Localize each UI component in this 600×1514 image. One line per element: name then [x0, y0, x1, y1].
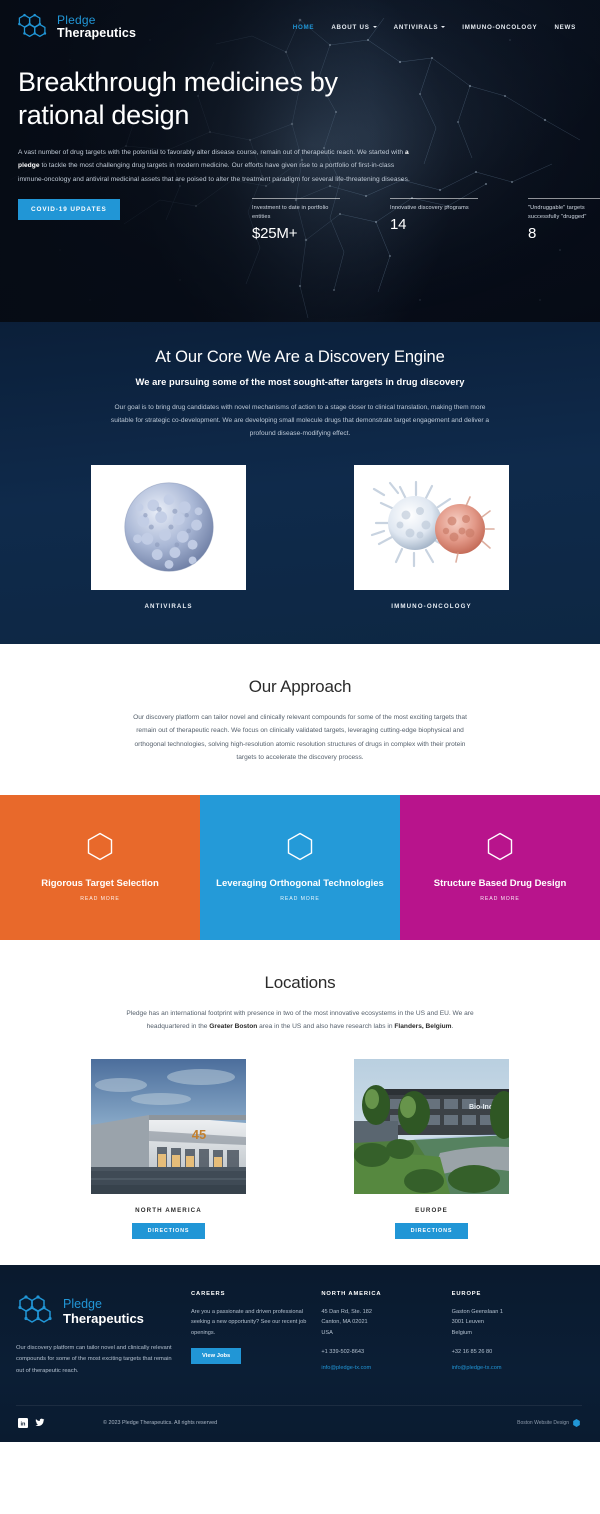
north-america-photo: 45 — [91, 1059, 246, 1194]
nav-item-antivirals[interactable]: ANTIVIRALS — [394, 24, 446, 31]
eu-phone[interactable]: +32 16 85 26 80 — [452, 1347, 582, 1357]
page-root: Pledge Therapeutics HOME ABOUT US ANTIVI… — [0, 0, 600, 1442]
pillar-title: Rigorous Target Selection — [41, 877, 159, 890]
engine-card-antivirals[interactable]: ANTIVIRALS — [91, 465, 246, 610]
stat-divider — [390, 198, 478, 199]
chevron-down-icon — [373, 26, 377, 28]
careers-heading: CAREERS — [191, 1291, 321, 1297]
stat-programs-value: 14 — [390, 216, 478, 233]
stat-divider — [528, 198, 600, 199]
nav-item-home[interactable]: HOME — [293, 24, 315, 31]
approach-title: Our Approach — [0, 677, 600, 697]
footer-brand-column: Pledge Therapeutics Our discovery platfo… — [16, 1291, 191, 1377]
europe-address: Gaston Geenslaan 1 3001 Leuven Belgium — [452, 1307, 582, 1338]
eu-city: 3001 Leuven — [452, 1317, 582, 1327]
twitter-icon[interactable] — [35, 1418, 45, 1428]
locations-intro-part2: area in the US and also have research la… — [257, 1023, 394, 1030]
credit-badge-icon — [573, 1419, 580, 1427]
approach-pillars: Rigorous Target Selection READ MORE Leve… — [0, 795, 600, 940]
hexagon-outline-icon — [87, 832, 113, 861]
location-north-america: 45 NORTH AMERICA DIRECTIONS — [91, 1059, 246, 1239]
copyright-text: © 2023 Pledge Therapeutics. All rights r… — [103, 1420, 517, 1426]
north-america-heading: NORTH AMERICA — [321, 1291, 451, 1297]
north-america-directions-button[interactable]: DIRECTIONS — [132, 1223, 206, 1239]
covid-updates-button[interactable]: COVID-19 UPDATES — [18, 199, 120, 220]
footer-blurb: Our discovery platform can tailor novel … — [16, 1343, 177, 1377]
locations-intro-bold2: Flanders, Belgium — [394, 1023, 451, 1030]
stat-undruggable: "Undruggable" targets successfully "drug… — [528, 198, 600, 242]
antivirals-thumbnail — [91, 465, 246, 590]
footer-europe-column: EUROPE Gaston Geenslaan 1 3001 Leuven Be… — [452, 1291, 582, 1377]
pillar-title: Leveraging Orthogonal Technologies — [216, 877, 384, 890]
stat-investment-value: $25M+ — [252, 225, 340, 242]
nav-item-about-us-label: ABOUT US — [331, 24, 369, 31]
svg-text:45: 45 — [192, 1127, 206, 1142]
footer-careers-column: CAREERS Are you a passionate and driven … — [191, 1291, 321, 1377]
hero-paragraph-part1: A vast number of drug targets with the p… — [18, 149, 405, 156]
hero-stats: Investment to date in portfolio entities… — [252, 198, 600, 242]
stat-programs: Innovative discovery programs 14 — [390, 198, 478, 242]
view-jobs-button[interactable]: View Jobs — [191, 1348, 241, 1364]
careers-body: Are you a passionate and driven professi… — [191, 1307, 321, 1338]
north-america-caption: NORTH AMERICA — [91, 1207, 246, 1214]
north-america-address: 45 Dan Rd, Ste. 182 Canton, MA 02021 USA — [321, 1307, 451, 1338]
our-approach-section: Our Approach Our discovery platform can … — [0, 644, 600, 795]
main-navigation: Pledge Therapeutics HOME ABOUT US ANTIVI… — [0, 0, 600, 44]
svg-text:in: in — [21, 1421, 27, 1427]
hero-content: Breakthrough medicines by rational desig… — [0, 44, 600, 220]
footer-north-america-column: NORTH AMERICA 45 Dan Rd, Ste. 182 Canton… — [321, 1291, 451, 1377]
footer-brand-line2: Therapeutics — [63, 1311, 144, 1326]
nav-item-antivirals-label: ANTIVIRALS — [394, 24, 439, 31]
locations-intro-bold1: Greater Boston — [209, 1023, 257, 1030]
pillar-read-more-link[interactable]: READ MORE — [80, 896, 120, 902]
stat-investment: Investment to date in portfolio entities… — [252, 198, 340, 242]
na-country: USA — [321, 1328, 451, 1338]
immuno-oncology-thumbnail — [354, 465, 509, 590]
north-america-building-photo: 45 — [91, 1059, 246, 1194]
pillar-structure-based-drug-design[interactable]: Structure Based Drug Design READ MORE — [400, 795, 600, 940]
molecule-hexagon-logo-icon — [16, 10, 50, 44]
europe-directions-button[interactable]: DIRECTIONS — [395, 1223, 469, 1239]
nav-item-immuno-oncology-label: IMMUNO-ONCOLOGY — [462, 24, 537, 31]
engine-body: Our goal is to bring drug candidates wit… — [104, 401, 496, 441]
linkedin-icon[interactable]: in — [18, 1418, 28, 1428]
discovery-engine-section: At Our Core We Are a Discovery Engine We… — [0, 322, 600, 644]
eu-email-link[interactable]: info@pledge-tx.com — [452, 1365, 582, 1371]
brand-name-line1: Pledge — [57, 14, 136, 27]
pillar-title: Structure Based Drug Design — [434, 877, 567, 890]
hexagon-outline-icon — [487, 832, 513, 861]
na-city: Canton, MA 02021 — [321, 1317, 451, 1327]
stat-undruggable-label: "Undruggable" targets successfully "drug… — [528, 204, 600, 222]
hero-paragraph: A vast number of drug targets with the p… — [18, 146, 413, 186]
engine-cards: ANTIVIRALS — [0, 465, 600, 610]
engine-subtitle: We are pursuing some of the most sought-… — [0, 376, 600, 387]
locations-title: Locations — [0, 973, 600, 993]
hero-section: Pledge Therapeutics HOME ABOUT US ANTIVI… — [0, 0, 600, 322]
locations-cards: 45 NORTH AMERICA DIRECTIONS — [0, 1059, 600, 1239]
pillar-rigorous-target-selection[interactable]: Rigorous Target Selection READ MORE — [0, 795, 200, 940]
locations-intro: Pledge has an international footprint wi… — [104, 1007, 496, 1033]
website-credit[interactable]: Boston Website Design — [517, 1419, 580, 1427]
hero-heading: Breakthrough medicines by rational desig… — [18, 66, 388, 132]
stat-investment-label: Investment to date in portfolio entities — [252, 204, 340, 222]
locations-intro-part3: . — [452, 1023, 454, 1030]
nav-item-about-us[interactable]: ABOUT US — [331, 24, 376, 31]
nav-item-news[interactable]: NEWS — [554, 24, 576, 31]
europe-heading: EUROPE — [452, 1291, 582, 1297]
footer-brand-logo[interactable]: Pledge Therapeutics — [16, 1291, 177, 1331]
hero-paragraph-part2: to tackle the most challenging drug targ… — [18, 162, 410, 182]
hexagon-outline-icon — [287, 832, 313, 861]
eu-street: Gaston Geenslaan 1 — [452, 1307, 582, 1317]
virus-particle-image — [110, 468, 228, 586]
engine-title: At Our Core We Are a Discovery Engine — [0, 348, 600, 367]
site-footer: Pledge Therapeutics Our discovery platfo… — [0, 1265, 600, 1442]
footer-grid: Pledge Therapeutics Our discovery platfo… — [16, 1291, 582, 1377]
immune-cell-tumor-cell-image — [354, 465, 509, 590]
pillar-read-more-link[interactable]: READ MORE — [480, 896, 520, 902]
europe-photo: Bio-Incubator — [354, 1059, 509, 1194]
nav-links: HOME ABOUT US ANTIVIRALS IMMUNO-ONCOLOGY… — [293, 24, 582, 31]
stat-undruggable-value: 8 — [528, 225, 600, 242]
immuno-oncology-caption: IMMUNO-ONCOLOGY — [354, 603, 509, 610]
eu-country: Belgium — [452, 1328, 582, 1338]
na-email-link[interactable]: info@pledge-tx.com — [321, 1365, 451, 1371]
nav-item-news-label: NEWS — [554, 24, 576, 31]
stat-programs-label: Innovative discovery programs — [390, 204, 478, 213]
nav-item-immuno-oncology[interactable]: IMMUNO-ONCOLOGY — [462, 24, 537, 31]
pillar-read-more-link[interactable]: READ MORE — [280, 896, 320, 902]
social-links: in — [18, 1418, 103, 1428]
locations-section: Locations Pledge has an international fo… — [0, 940, 600, 1265]
brand-logo[interactable]: Pledge Therapeutics — [16, 10, 136, 44]
approach-body: Our discovery platform can tailor novel … — [128, 711, 473, 765]
europe-caption: EUROPE — [354, 1207, 509, 1214]
nav-item-home-label: HOME — [293, 24, 315, 31]
molecule-hexagon-logo-icon — [16, 1291, 56, 1331]
brand-name-line2: Therapeutics — [57, 27, 136, 40]
pillar-leveraging-orthogonal-technologies[interactable]: Leveraging Orthogonal Technologies READ … — [200, 795, 400, 940]
na-phone[interactable]: +1 339-502-8643 — [321, 1347, 451, 1357]
antivirals-caption: ANTIVIRALS — [91, 603, 246, 610]
website-credit-label: Boston Website Design — [517, 1420, 569, 1426]
footer-bottom-bar: in © 2023 Pledge Therapeutics. All right… — [16, 1405, 582, 1442]
location-europe: Bio-Incubator — [354, 1059, 509, 1239]
stat-divider — [252, 198, 340, 199]
engine-card-immuno-oncology[interactable]: IMMUNO-ONCOLOGY — [354, 465, 509, 610]
na-street: 45 Dan Rd, Ste. 182 — [321, 1307, 451, 1317]
chevron-down-icon — [441, 26, 445, 28]
footer-brand-line1: Pledge — [63, 1297, 144, 1311]
europe-building-photo: Bio-Incubator — [354, 1059, 509, 1194]
